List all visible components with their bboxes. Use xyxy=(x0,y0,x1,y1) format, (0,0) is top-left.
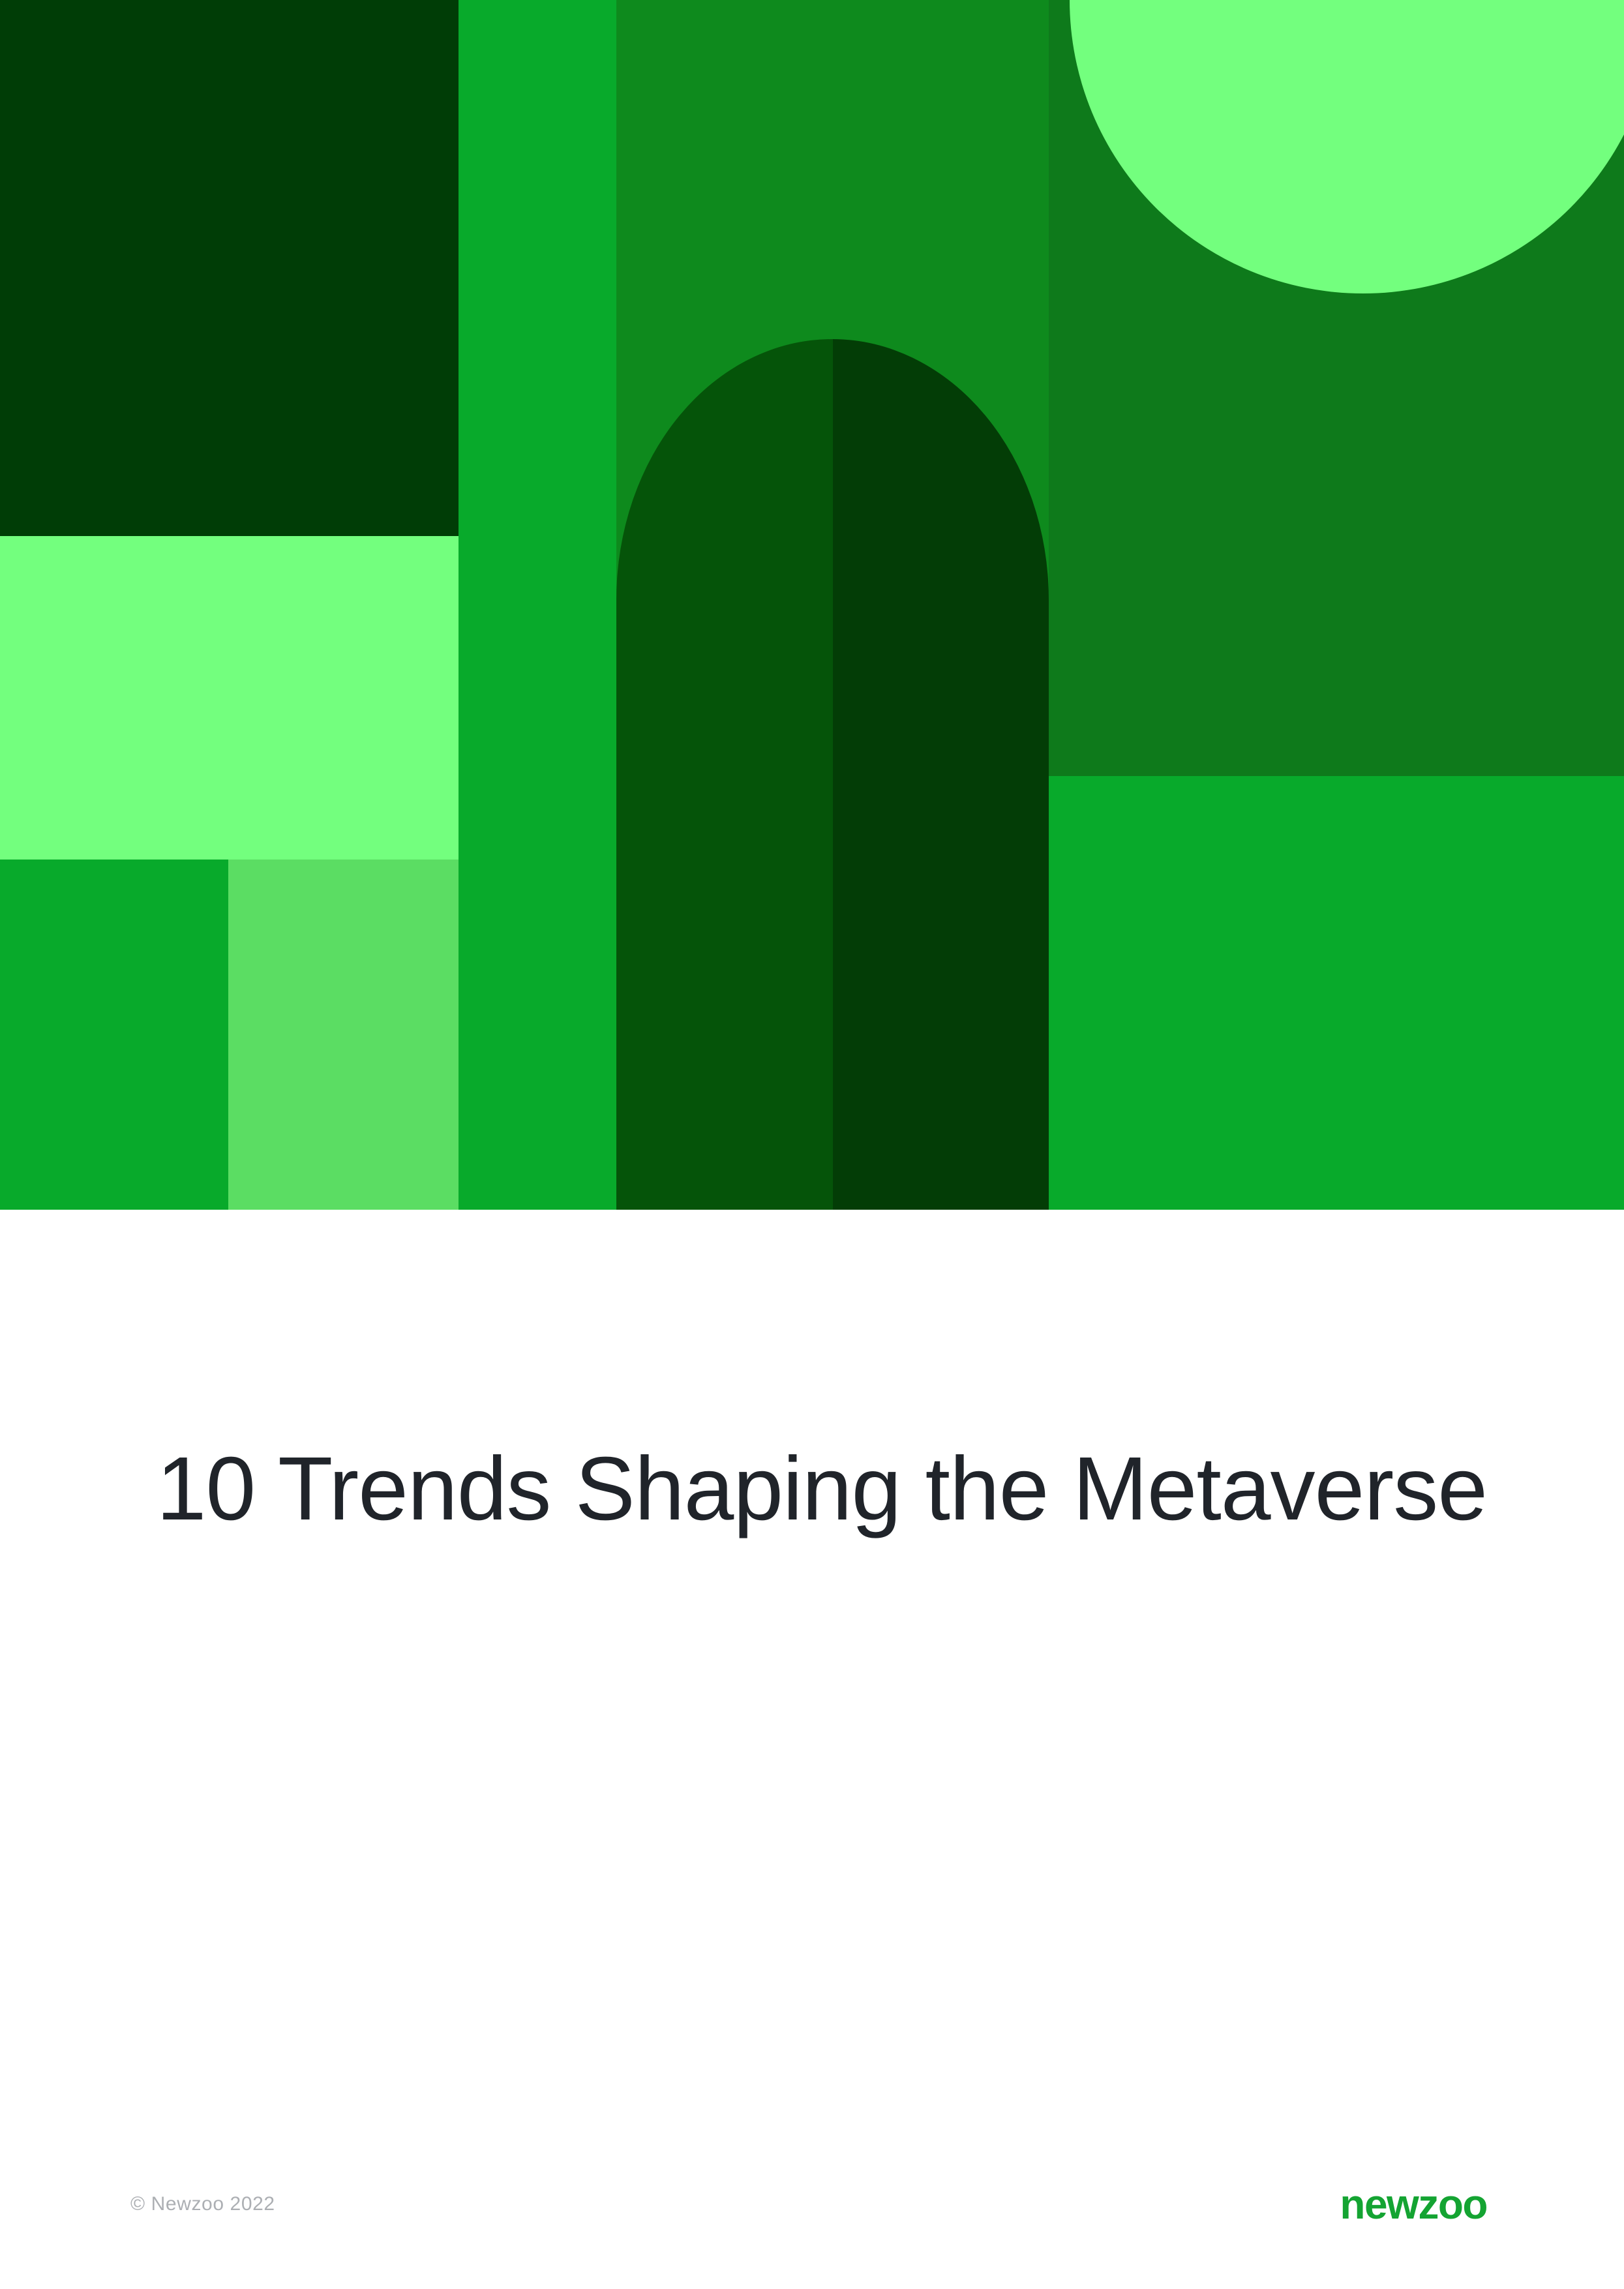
graphic-bright-column xyxy=(459,0,616,1210)
graphic-light-block xyxy=(0,536,459,860)
graphic-arch-right-half xyxy=(833,339,1049,1210)
graphic-medium-light-block xyxy=(228,860,459,1210)
graphic-right-lower-block xyxy=(1049,776,1624,1210)
newzoo-logo: newzoo xyxy=(1340,2180,1487,2228)
title-block: 10 Trends Shaping the Metaverse xyxy=(0,1428,1624,1549)
graphic-arch-left-half xyxy=(616,339,833,1210)
graphic-arch xyxy=(616,339,1049,1210)
cover-page: 10 Trends Shaping the Metaverse © Newzoo… xyxy=(0,0,1624,2289)
page-footer: © Newzoo 2022 newzoo xyxy=(0,2119,1624,2289)
copyright-notice: © Newzoo 2022 xyxy=(130,2193,275,2215)
page-title: 10 Trends Shaping the Metaverse xyxy=(0,1428,1487,1549)
graphic-midgreen-block xyxy=(0,860,228,1210)
cover-graphic xyxy=(0,0,1624,1210)
graphic-dark-block xyxy=(0,0,459,536)
